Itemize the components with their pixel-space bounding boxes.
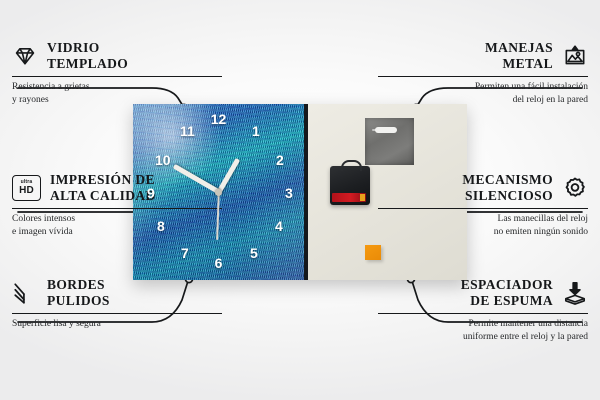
foam-spacer-arrow-icon [562, 280, 588, 306]
feature-title-line2: PULIDOS [47, 293, 110, 309]
feature-title-line1: MANEJAS [485, 40, 553, 56]
divider [12, 208, 222, 210]
feature-title-line1: ESPACIADOR [461, 277, 553, 293]
clock-numeral-2: 2 [276, 153, 284, 167]
ultra-hd-large-label: HD [19, 186, 34, 196]
ultra-hd-badge-icon: ultra HD [12, 175, 41, 201]
feature-desc-line2: e imagen vívida [12, 226, 222, 239]
divider [12, 76, 222, 78]
feature-bordes-pulidos: BORDES PULIDOS Superficie lisa y segura [12, 277, 222, 331]
divider [378, 208, 588, 210]
clock-numeral-9: 9 [147, 186, 155, 200]
battery [332, 193, 366, 202]
clock-numeral-12: 12 [211, 112, 227, 126]
feature-impresion-alta-calidad: ultra HD IMPRESIÓN DE ALTA CALIDAD Color… [12, 172, 222, 239]
feature-title-line2: DE ESPUMA [461, 293, 553, 309]
clock-mechanism [330, 166, 370, 205]
clock-numeral-6: 6 [215, 256, 223, 270]
feature-desc-line2: no emiten ningún sonido [378, 226, 588, 239]
clock-numeral-8: 8 [157, 219, 165, 233]
feature-desc-line1: Resistencia a grietas [12, 81, 222, 94]
hanger-slot [375, 127, 397, 133]
divider [378, 76, 588, 78]
feature-manejas-metal: MANEJAS METAL Permiten una fácil instala… [378, 40, 588, 107]
feature-desc-line1: Las manecillas del reloj [378, 213, 588, 226]
feature-desc-line1: Permiten una fácil instalación [378, 81, 588, 94]
feature-title-line2: SILENCIOSO [462, 188, 553, 204]
clock-numeral-3: 3 [285, 186, 293, 200]
feature-desc-line2: y rayones [12, 94, 222, 107]
polished-edges-icon [12, 280, 38, 306]
divider [12, 313, 222, 315]
feature-vidrio-templado: VIDRIO TEMPLADO Resistencia a grietas y … [12, 40, 222, 107]
feature-desc-line1: Superficie lisa y segura [12, 318, 222, 331]
feature-title-line1: BORDES [47, 277, 110, 293]
feature-mecanismo-silencioso: MECANISMO SILENCIOSO Las manecillas del … [378, 172, 588, 239]
clock-numeral-10: 10 [155, 153, 171, 167]
diamond-icon [12, 43, 38, 69]
metal-hanger-plate [365, 118, 414, 165]
feature-desc-line2: del reloj en la pared [378, 94, 588, 107]
divider [378, 313, 588, 315]
clock-numeral-4: 4 [275, 219, 283, 233]
foam-spacer [365, 245, 381, 260]
feature-desc-line1: Colores intensos [12, 213, 222, 226]
feature-espaciador-espuma: ESPACIADOR DE ESPUMA Permite mantener un… [378, 277, 588, 344]
feature-desc-line2: uniforme entre el reloj y la pared [378, 331, 588, 344]
feature-title-line1: MECANISMO [462, 172, 553, 188]
feature-title-line2: ALTA CALIDAD [50, 188, 156, 204]
clock-numeral-11: 11 [180, 124, 195, 138]
clock-center-cap [215, 189, 222, 196]
feature-title-line2: METAL [485, 56, 553, 72]
feature-title-line1: IMPRESIÓN DE [50, 172, 156, 188]
feature-title-line1: VIDRIO [47, 40, 128, 56]
mechanism-hook [341, 160, 362, 171]
clock-numeral-7: 7 [181, 246, 189, 260]
clock-numeral-5: 5 [250, 246, 258, 260]
framed-picture-hanger-icon [562, 43, 588, 69]
feature-desc-line1: Permite mantener una distancia [378, 318, 588, 331]
feature-title-line2: TEMPLADO [47, 56, 128, 72]
clock-numeral-1: 1 [252, 124, 260, 138]
infographic-canvas: 12 1 2 3 4 5 6 7 8 9 10 11 [0, 0, 600, 400]
gear-icon [562, 175, 588, 201]
